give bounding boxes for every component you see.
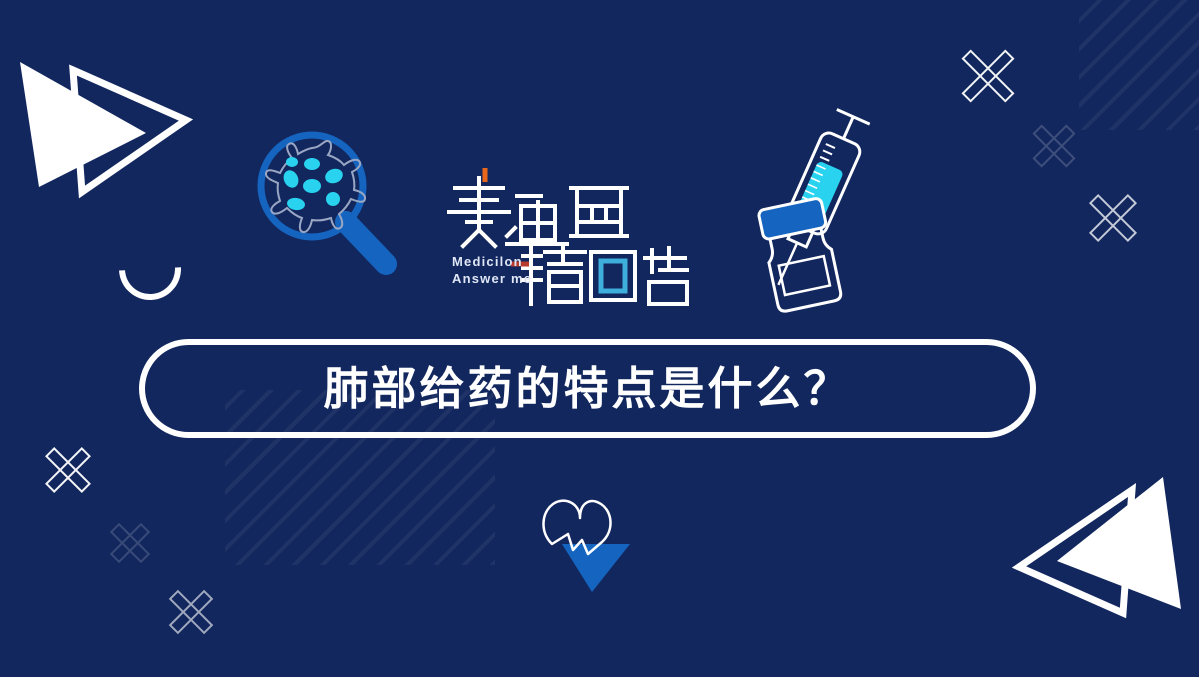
pulse-arrow-shape bbox=[562, 544, 630, 592]
diagonal-stripes-top-right bbox=[1079, 0, 1199, 130]
syringe-plunger-rod bbox=[843, 117, 853, 139]
syringe-vial-icon bbox=[748, 103, 893, 298]
magnifier-handle bbox=[346, 222, 386, 264]
triangle-pair-bottom-right bbox=[995, 465, 1195, 635]
vial-body bbox=[764, 227, 842, 313]
page-title: 肺部给药的特点是什么？ bbox=[323, 366, 851, 411]
heart-pulse-icon bbox=[520, 492, 640, 592]
logo-tagline-en: Answer me bbox=[452, 270, 532, 287]
x-mark-6 bbox=[166, 587, 216, 637]
vial-label bbox=[779, 256, 830, 295]
x-mark-4 bbox=[42, 444, 94, 496]
syringe-graduations bbox=[820, 144, 835, 161]
magnifier-virus-icon bbox=[246, 124, 426, 274]
x-mark-5 bbox=[108, 521, 152, 565]
title-pill-frame: 肺部给药的特点是什么？ bbox=[139, 339, 1036, 438]
syringe-plunger-flange bbox=[837, 109, 870, 124]
triangle-pair-top-left bbox=[10, 45, 210, 215]
vial bbox=[758, 197, 842, 312]
x-mark-2 bbox=[1030, 122, 1078, 170]
logo-brand-en: Medicilon bbox=[452, 253, 532, 270]
x-mark-1 bbox=[957, 45, 1019, 107]
slide-canvas: Medicilon Answer me 肺部给药的特点是什么？ bbox=[0, 0, 1199, 677]
arc-icon bbox=[106, 225, 194, 313]
logo-accent-box-cyan bbox=[601, 261, 625, 291]
x-mark-3 bbox=[1085, 190, 1140, 245]
virus-spike-dots bbox=[281, 157, 345, 211]
logo-english-text: Medicilon Answer me bbox=[452, 253, 532, 287]
brand-logo: Medicilon Answer me bbox=[445, 160, 695, 310]
